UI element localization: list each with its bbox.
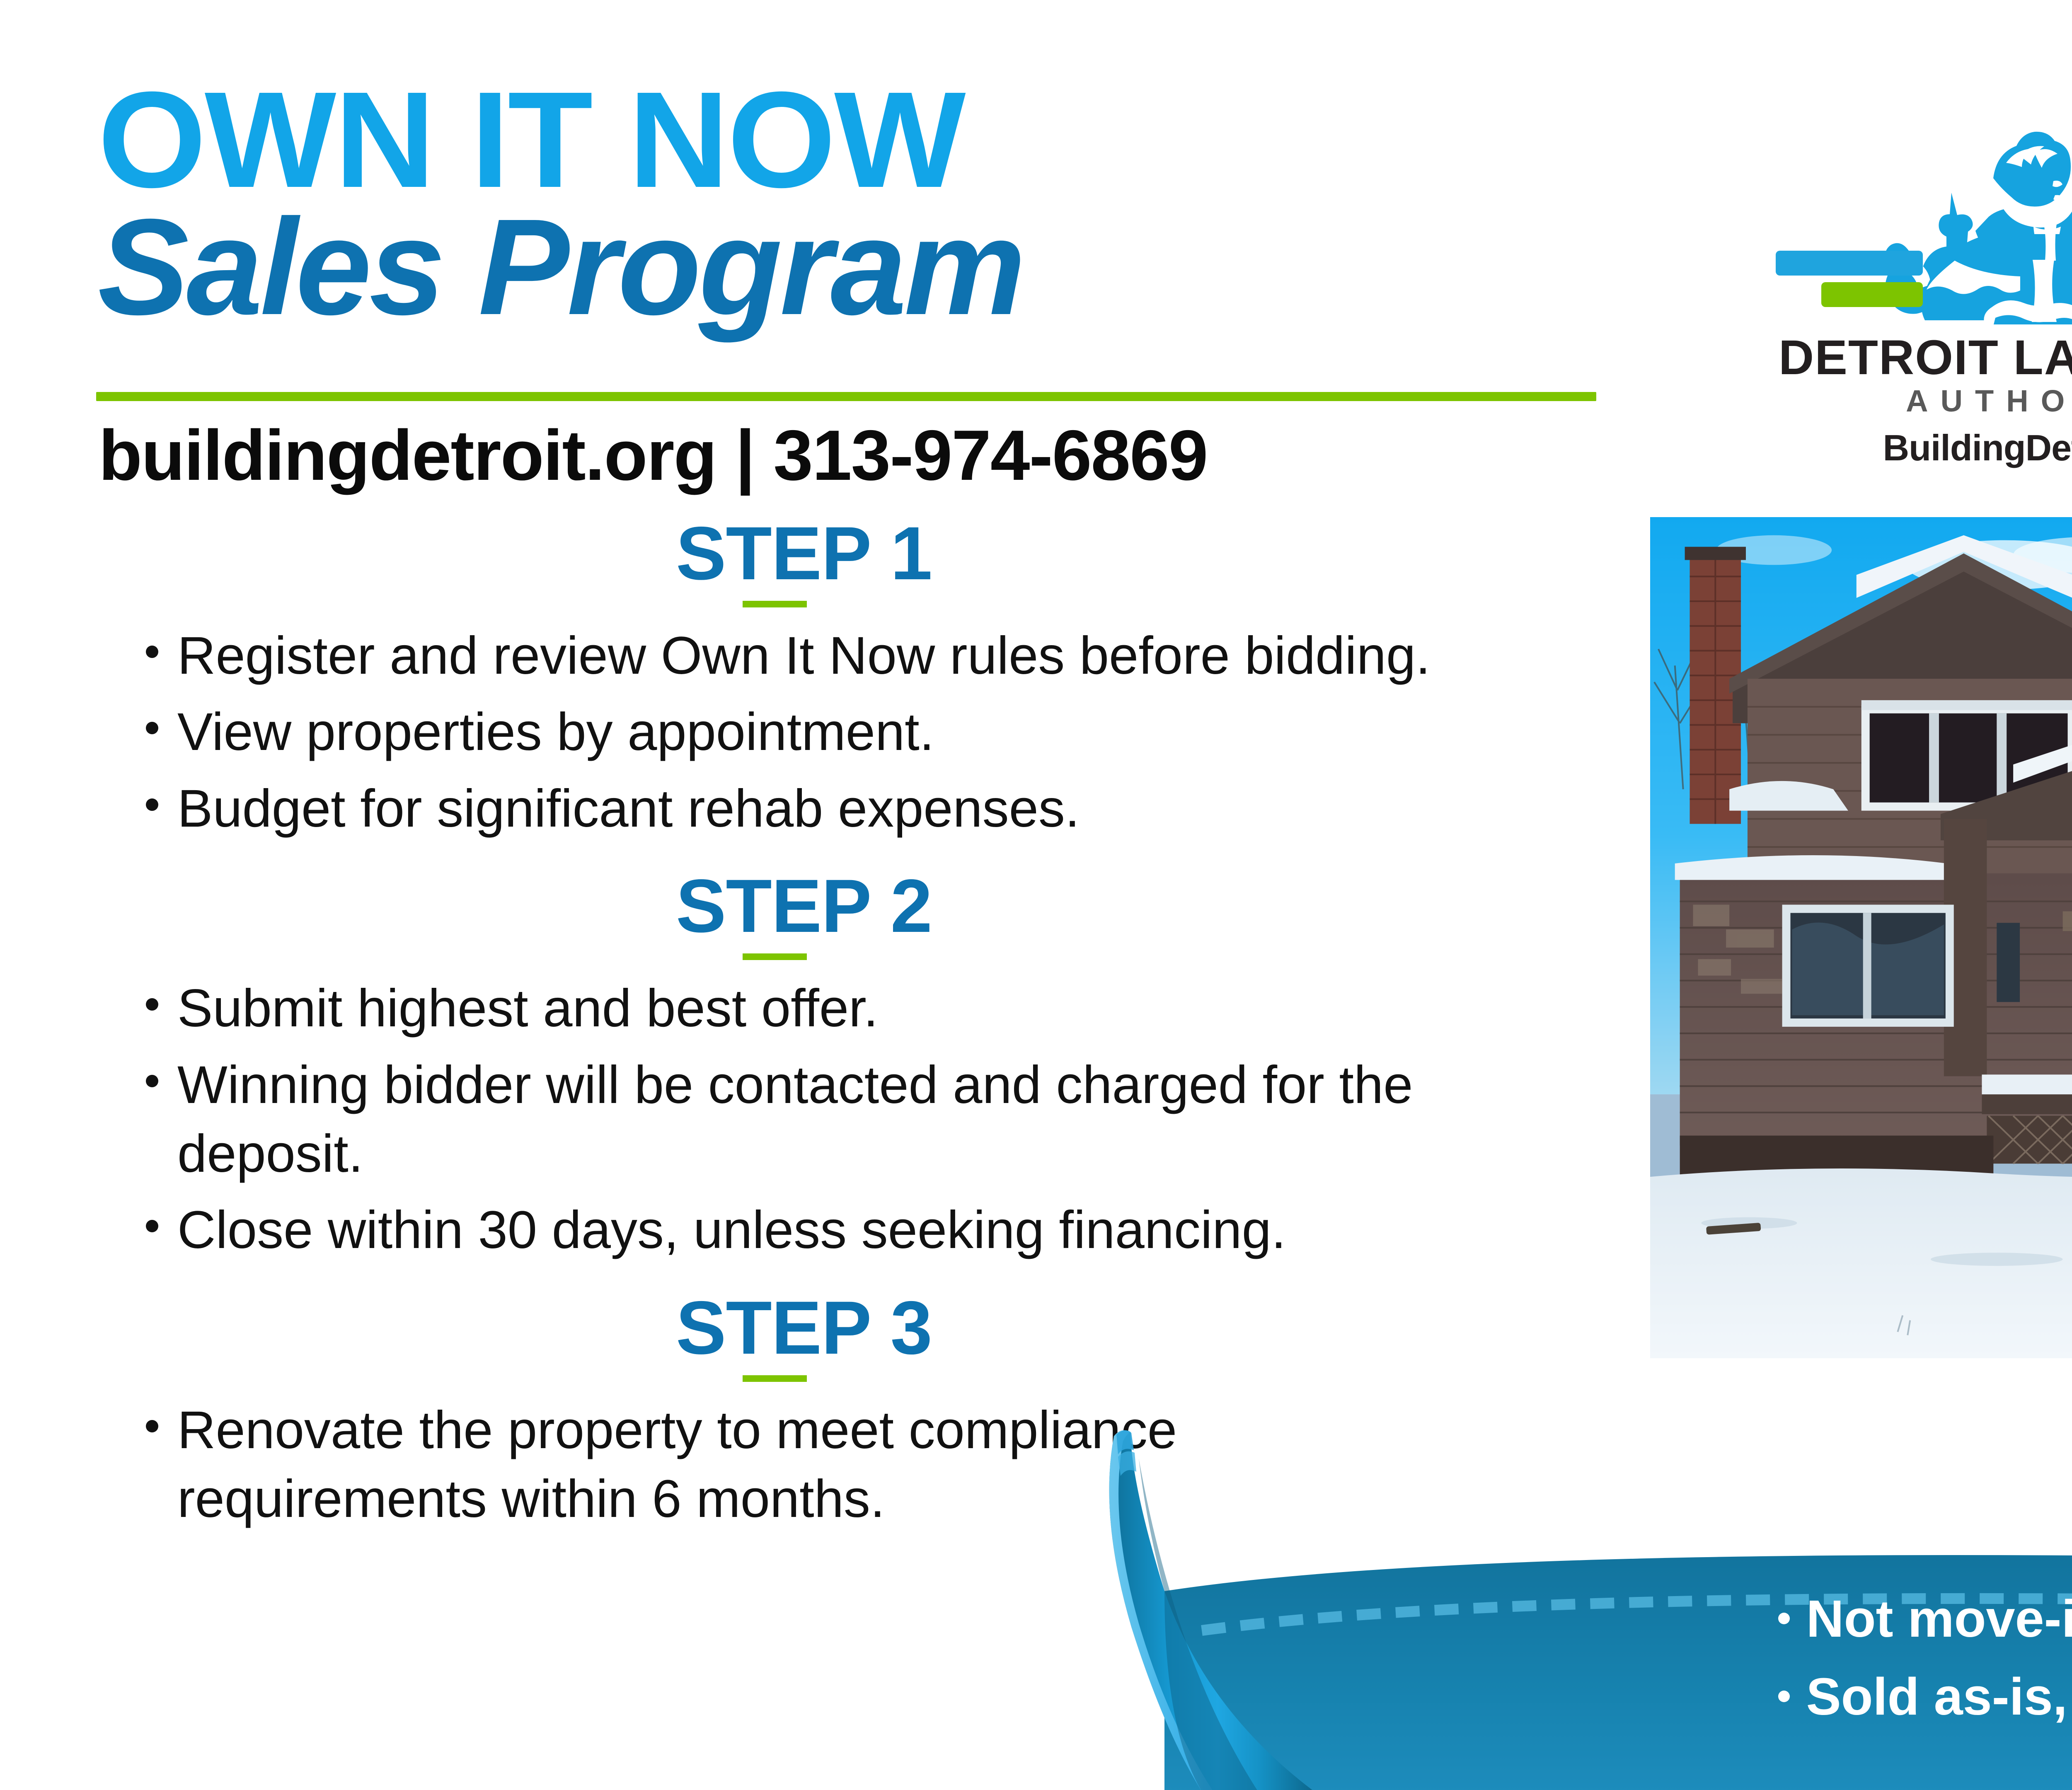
contact-info[interactable]: buildingdetroit.org | 313-974-6869 xyxy=(99,414,1207,496)
step-1-bullets: Register and review Own It Now rules bef… xyxy=(0,622,1608,843)
logo-org-subname: AUTHORITY xyxy=(1776,383,2072,418)
step-section-1: STEP 1 Register and review Own It Now ru… xyxy=(0,510,1608,843)
step-label-1: STEP 1 xyxy=(676,510,932,597)
logo-org-name: DETROIT LAND BANK xyxy=(1776,329,2072,386)
list-item: Budget for significant rehab expenses. xyxy=(124,774,1483,843)
step-header-2: STEP 2 xyxy=(0,862,1608,960)
detroit-land-bank-logo: DETROIT LAND BANK AUTHORITY BuildingDetr… xyxy=(1776,73,2072,458)
logo-accent-bars xyxy=(1776,251,2072,317)
step-underline-1 xyxy=(743,601,807,607)
list-item: Submit highest and best offer. xyxy=(124,974,1483,1043)
step-header-3: STEP 3 xyxy=(0,1284,1608,1382)
property-photo xyxy=(1650,517,2072,1358)
ribbon-bullet-list: Not move-in ready Sold as-is, where-is xyxy=(1769,1591,2072,1746)
page-title: OWN IT NOW Sales Program xyxy=(98,75,1610,336)
step-2-bullets: Submit highest and best offer. Winning b… xyxy=(0,974,1608,1265)
list-item: Winning bidder will be contacted and cha… xyxy=(124,1051,1483,1189)
ribbon-bullet-item: Sold as-is, where-is xyxy=(1769,1669,2072,1725)
title-line-own-it-now: OWN IT NOW xyxy=(98,75,1641,205)
flyer-page: OWN IT NOW Sales Program buildingdetroit… xyxy=(0,0,2072,1790)
step-section-2: STEP 2 Submit highest and best offer. Wi… xyxy=(0,862,1608,1265)
logo-bars-left xyxy=(1776,251,1923,307)
step-underline-2 xyxy=(743,953,807,960)
step-label-2: STEP 2 xyxy=(676,862,932,949)
bottom-ribbon-banner: Not move-in ready Sold as-is, where-is xyxy=(1028,1396,2072,1790)
logo-bar-blue-left xyxy=(1776,251,1923,276)
list-item: Register and review Own It Now rules bef… xyxy=(124,622,1483,690)
logo-url[interactable]: BuildingDetroit.org xyxy=(1776,427,2072,469)
steps-list: STEP 1 Register and review Own It Now ru… xyxy=(0,510,1608,1541)
step-underline-3 xyxy=(743,1375,807,1382)
list-item: View properties by appointment. xyxy=(124,698,1483,767)
logo-bar-green-left xyxy=(1821,282,1923,307)
list-item: Close within 30 days, unless seeking fin… xyxy=(124,1196,1483,1265)
title-divider xyxy=(96,392,1596,401)
step-header-1: STEP 1 xyxy=(0,510,1608,607)
ribbon-bullet-item: Not move-in ready xyxy=(1769,1591,2072,1647)
step-label-3: STEP 3 xyxy=(676,1284,932,1371)
title-line-sales-program: Sales Program xyxy=(98,197,1610,337)
